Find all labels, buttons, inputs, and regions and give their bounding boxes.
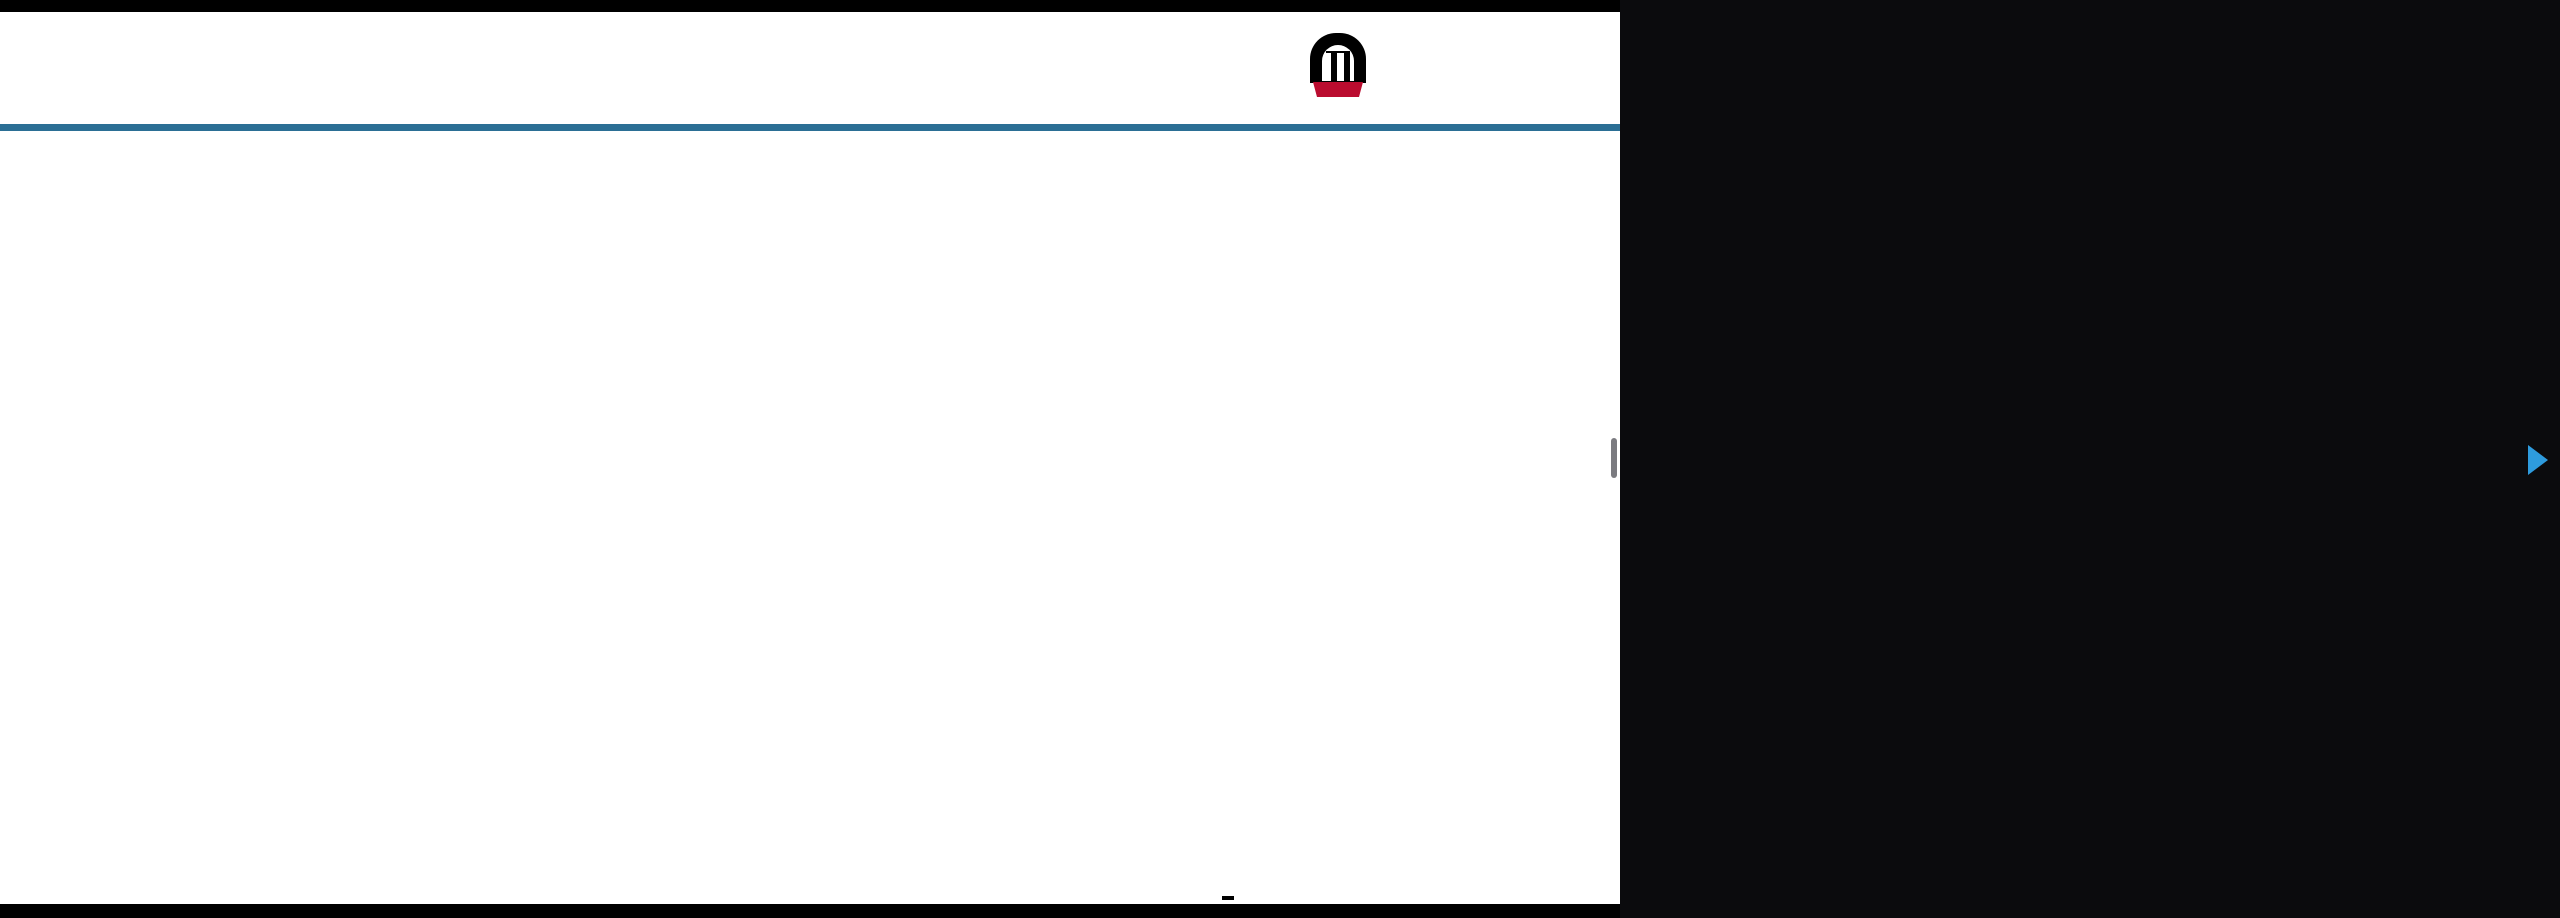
elevation-map [860, 140, 1480, 840]
uga-arch-year [1313, 82, 1363, 97]
shared-screen-region [0, 0, 1620, 918]
isotope-scatter-chart [10, 130, 800, 690]
slide-citation [1222, 896, 1234, 900]
uga-arch-icon [1310, 33, 1366, 99]
zoom-gallery-panel [1620, 0, 2560, 918]
isotope-chart-svg [10, 130, 800, 690]
participant-grid [1634, 143, 2546, 783]
chevron-right-icon [2528, 445, 2548, 475]
panel-resize-handle[interactable] [1611, 438, 1617, 478]
presentation-slide [0, 12, 1620, 904]
gallery-next-page-button[interactable] [2518, 418, 2558, 504]
uga-warnell-logo [1310, 22, 1610, 110]
elevation-map-svg [860, 140, 1480, 840]
slide-header [0, 12, 1620, 130]
